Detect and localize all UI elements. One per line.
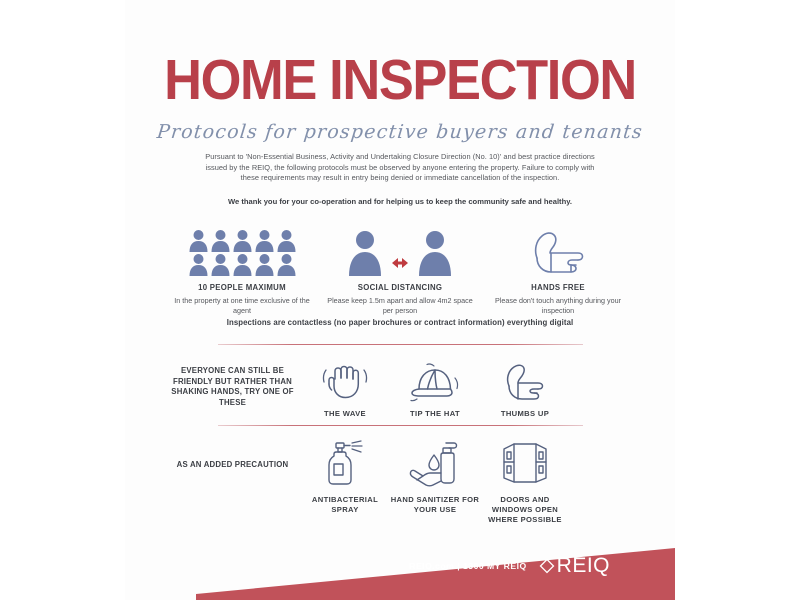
social-distancing-icon: [325, 228, 475, 276]
poster-sheet: HOME INSPECTION Protocols for prospectiv…: [125, 0, 675, 600]
section-greeting: EVERYONE CAN STILL BE FRIENDLY BUT RATHE…: [125, 360, 675, 418]
page-subtitle: Protocols for prospective buyers and ten…: [125, 121, 675, 143]
contactless-note: Inspections are contactless (no paper br…: [125, 318, 675, 327]
greeting-title: THUMBS UP: [480, 409, 570, 418]
feature-title: 10 PEOPLE MAXIMUM: [167, 283, 317, 292]
waving-hand-icon: [300, 360, 390, 402]
reiq-logo-text: REIQ: [557, 555, 610, 576]
thumbs-up-icon: [480, 360, 570, 402]
greeting-thumbs-up: THUMBS UP: [480, 360, 570, 418]
precaution-title: ANTIBACTERIAL SPRAY: [300, 495, 390, 515]
section-precaution: AS AN ADDED PRECAUTION ANTIBACTERIAL SPR: [125, 440, 675, 524]
open-window-icon: [480, 440, 570, 488]
greeting-the-wave: THE WAVE: [300, 360, 390, 418]
cap-hat-icon: [390, 360, 480, 402]
feature-people-maximum: 10 PEOPLE MAXIMUM In the property at one…: [163, 228, 321, 315]
people-group-icon: [167, 228, 317, 276]
thanks-line: We thank you for your co-operation and f…: [200, 197, 600, 207]
feature-description: Please don't touch anything during your …: [483, 296, 633, 315]
poster-canvas: HOME INSPECTION Protocols for prospectiv…: [0, 0, 800, 600]
intro-paragraph: Pursuant to 'Non-Essential Business, Act…: [200, 152, 600, 184]
precaution-lead-text: AS AN ADDED PRECAUTION: [165, 440, 300, 471]
pointing-hand-icon: [483, 228, 633, 276]
precaution-hand-sanitizer: HAND SANITIZER FOR YOUR USE: [390, 440, 480, 515]
precaution-open-windows: DOORS AND WINDOWS OPEN WHERE POSSIBLE: [480, 440, 570, 524]
spray-bottle-icon: [300, 440, 390, 488]
diamond-icon: [539, 558, 555, 574]
feature-title: SOCIAL DISTANCING: [325, 283, 475, 292]
section-capacity: 10 PEOPLE MAXIMUM In the property at one…: [125, 228, 675, 315]
reiq-logo[interactable]: REIQ: [539, 555, 610, 576]
footer-content: REIQ.com | 1300 MY REIQ REIQ: [409, 555, 610, 576]
feature-description: In the property at one time exclusive of…: [167, 296, 317, 315]
feature-description: Please keep 1.5m apart and allow 4m2 spa…: [325, 296, 475, 315]
intro-block: Pursuant to 'Non-Essential Business, Act…: [200, 152, 600, 207]
footer-contact[interactable]: REIQ.com | 1300 MY REIQ: [409, 561, 526, 571]
feature-social-distancing: SOCIAL DISTANCING Please keep 1.5m apart…: [321, 228, 479, 315]
divider-2: [218, 425, 583, 426]
greeting-tip-the-hat: TIP THE HAT: [390, 360, 480, 418]
feature-hands-free: HANDS FREE Please don't touch anything d…: [479, 228, 637, 315]
greeting-lead-text: EVERYONE CAN STILL BE FRIENDLY BUT RATHE…: [165, 360, 300, 408]
page-title: HOME INSPECTION: [147, 52, 653, 109]
precaution-antibacterial-spray: ANTIBACTERIAL SPRAY: [300, 440, 390, 515]
feature-title: HANDS FREE: [483, 283, 633, 292]
precaution-title: HAND SANITIZER FOR YOUR USE: [390, 495, 480, 515]
greeting-title: THE WAVE: [300, 409, 390, 418]
title-block: HOME INSPECTION Protocols for prospectiv…: [125, 52, 675, 143]
divider-1: [218, 344, 583, 345]
precaution-title: DOORS AND WINDOWS OPEN WHERE POSSIBLE: [480, 495, 570, 524]
hand-sanitizer-icon: [390, 440, 480, 488]
greeting-title: TIP THE HAT: [390, 409, 480, 418]
